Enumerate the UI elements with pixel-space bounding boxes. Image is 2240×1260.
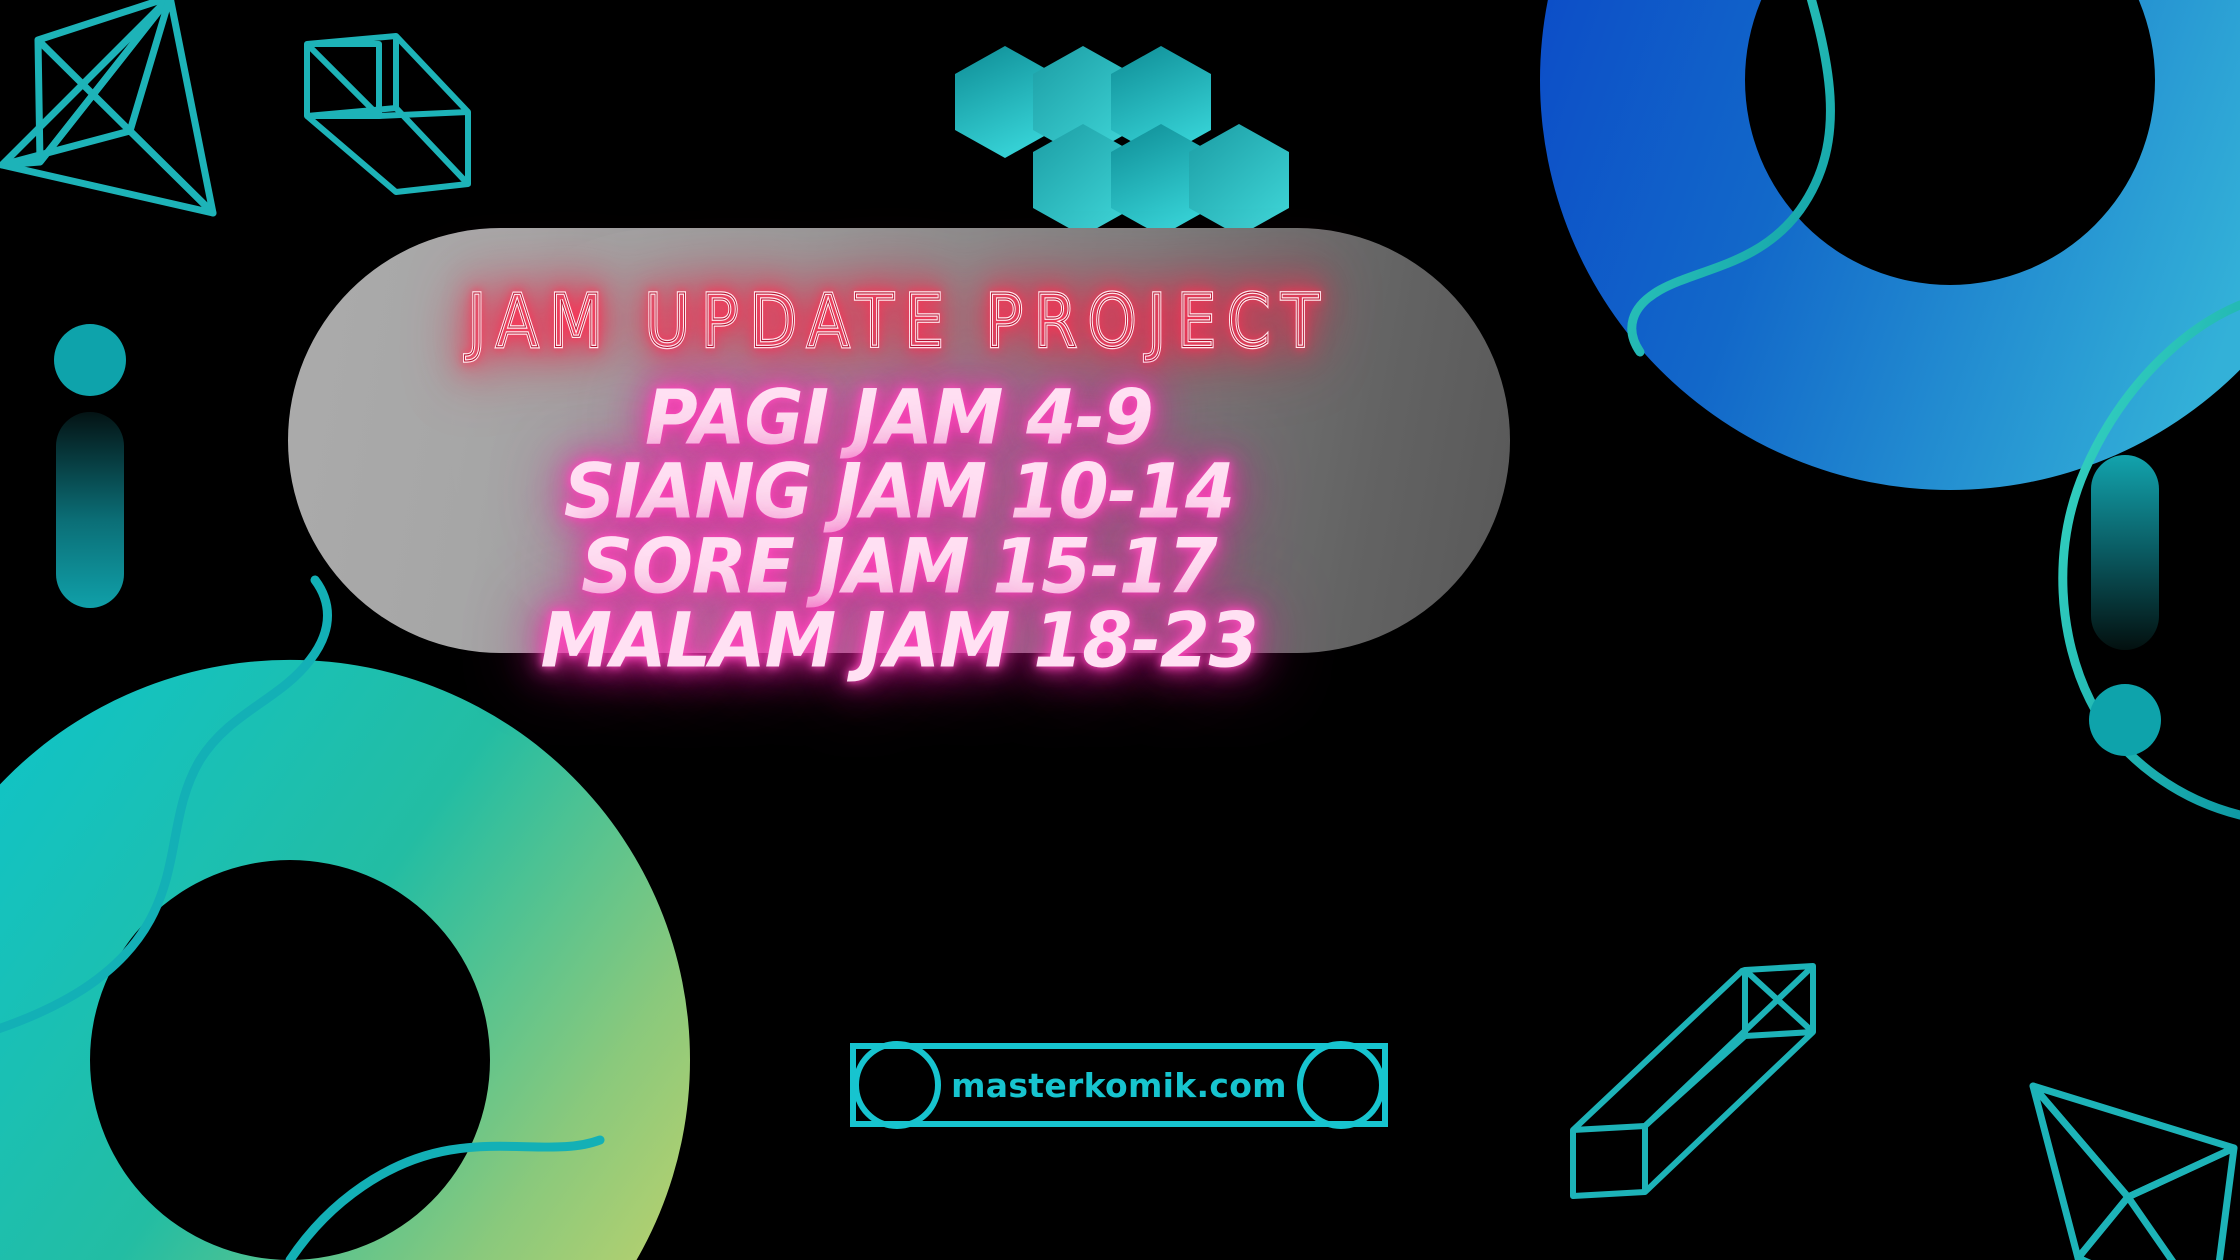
curvy-line-top-right bbox=[1632, 0, 2240, 815]
right-exclamation-mark bbox=[2089, 455, 2161, 756]
schedule-item-malam: MALAM JAM 18-23 bbox=[541, 603, 1258, 678]
top-left-prism-icon bbox=[307, 36, 468, 192]
poster-canvas: JAM UPDATE PROJECT PAGI JAM 4-9 SIANG JA… bbox=[0, 0, 2240, 1260]
schedule-item-pagi: PAGI JAM 4-9 bbox=[645, 380, 1153, 455]
schedule-list: PAGI JAM 4-9 SIANG JAM 10-14 SORE JAM 15… bbox=[590, 387, 1208, 685]
bottom-right-prism-icon bbox=[1573, 966, 1813, 1196]
website-url-badge[interactable]: masterkomik.com bbox=[849, 1041, 1389, 1129]
left-exclamation-mark bbox=[54, 324, 126, 608]
panel-content: JAM UPDATE PROJECT PAGI JAM 4-9 SIANG JA… bbox=[288, 228, 1510, 653]
hexagon-cluster-icon bbox=[955, 46, 1289, 236]
top-right-ring bbox=[1540, 0, 2240, 490]
schedule-item-siang: SIANG JAM 10-14 bbox=[564, 455, 1234, 530]
top-left-tetrahedron-icon bbox=[2, 0, 213, 213]
page-title: JAM UPDATE PROJECT bbox=[468, 278, 1330, 364]
schedule-item-sore: SORE JAM 15-17 bbox=[581, 529, 1216, 604]
bottom-left-ring bbox=[0, 660, 690, 1260]
curvy-line-bottom-left bbox=[0, 580, 600, 1260]
website-url-text: masterkomik.com bbox=[951, 1066, 1287, 1105]
bottom-right-tetrahedron-icon bbox=[2033, 1086, 2234, 1260]
